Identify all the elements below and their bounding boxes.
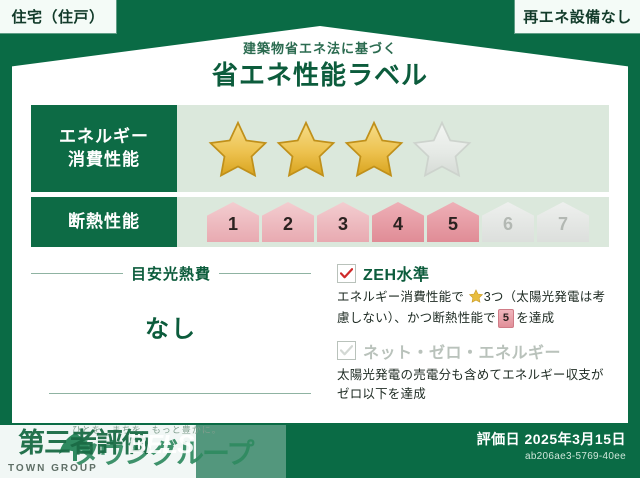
insulation-level-number: 2 [283,214,293,235]
zeh-checkbox[interactable] [337,264,356,283]
evaluation-date: 評価日 2025年3月15日 [477,429,626,449]
insulation-level-number: 1 [228,214,238,235]
insulation-level-number: 3 [338,214,348,235]
insulation-level-number: 6 [503,214,513,235]
lower-section: 目安光熱費 なし ZEH水準 エネルギー消費性能で [31,257,609,415]
net-zero-row: ネット・ゼロ・エネルギー [337,339,609,363]
insulation-level-4: 4 [372,202,424,242]
check-icon [340,268,353,279]
utility-cost-value: なし [31,309,311,344]
utility-cost-heading-text: 目安光熱費 [131,263,211,284]
zeh-description: エネルギー消費性能で 3つ（太陽光発電は考慮しない）、かつ断熱性能で5を達成 [337,288,609,329]
energy-performance-row: エネルギー 消費性能 [31,105,609,192]
insulation-level-2: 2 [262,202,314,242]
rule-right [219,273,311,274]
star-filled-icon [207,119,269,179]
utility-cost-bottom-rule [49,393,311,394]
watermark-bels: BELS [128,429,193,460]
utility-cost-heading: 目安光熱費 [31,263,311,284]
insulation-level-5: 5 [427,202,479,242]
building-type-tag: 住宅（住戸） [0,0,116,33]
insulation-level-6: 6 [482,202,534,242]
star-filled-icon [343,119,405,179]
insulation-performance-label: 断熱性能 [31,197,177,247]
zeh-desc-part3: を達成 [516,311,554,325]
insulation-level-number: 5 [448,214,458,235]
label-root: 住宅（住戸） 再エネ設備なし 建築物省エネ法に基づく 省エネ性能ラベル エネルギ… [0,0,640,478]
net-zero-checkbox[interactable] [337,341,356,360]
energy-label-line2: 消費性能 [59,149,149,172]
utility-cost-panel: 目安光熱費 なし [31,257,321,415]
header-title: 省エネ性能ラベル [0,55,640,92]
net-zero-title: ネット・ゼロ・エネルギー [363,339,561,363]
insulation-performance-row: 断熱性能 1234567 [31,197,609,247]
insulation-level-number: 7 [558,214,568,235]
insulation-level-1: 1 [207,202,259,242]
energy-label-line1: エネルギー [59,126,149,149]
label-card: エネルギー 消費性能 断熱性能 1234567 目安光熱費 [12,97,628,423]
star-rating [207,119,473,179]
net-zero-description: 太陽光発電の売電分も含めてエネルギー収支がゼロ以下を達成 [337,366,609,405]
rule-left [31,273,123,274]
insulation-level-3: 3 [317,202,369,242]
certification-panel: ZEH水準 エネルギー消費性能で 3つ（太陽光発電は考慮しない）、かつ断熱性能で… [321,257,609,415]
renewable-equipment-text: 再エネ設備なし [523,6,632,27]
insulation-level-scale: 1234567 [207,202,589,242]
energy-performance-value [177,105,609,192]
renewable-equipment-tag: 再エネ設備なし [515,0,640,33]
star-empty-icon [411,119,473,179]
inline-level-badge: 5 [498,309,514,328]
inline-star-icon [469,289,483,309]
check-icon-disabled [340,345,353,356]
energy-performance-label: エネルギー 消費性能 [31,105,177,192]
zeh-title: ZEH水準 [363,261,430,285]
zeh-desc-part1: エネルギー消費性能で [337,290,464,304]
insulation-level-7: 7 [537,202,589,242]
star-filled-icon [275,119,337,179]
building-type-text: 住宅（住戸） [11,6,104,27]
evaluation-id: ab206ae3-5769-40ee [477,451,626,462]
footer: 評価日 2025年3月15日 ab206ae3-5769-40ee TOWN G… [0,423,640,478]
insulation-level-number: 4 [393,214,403,235]
insulation-performance-value: 1234567 [177,197,609,247]
evaluation-info: 評価日 2025年3月15日 ab206ae3-5769-40ee [477,429,626,462]
zeh-row: ZEH水準 [337,261,609,285]
